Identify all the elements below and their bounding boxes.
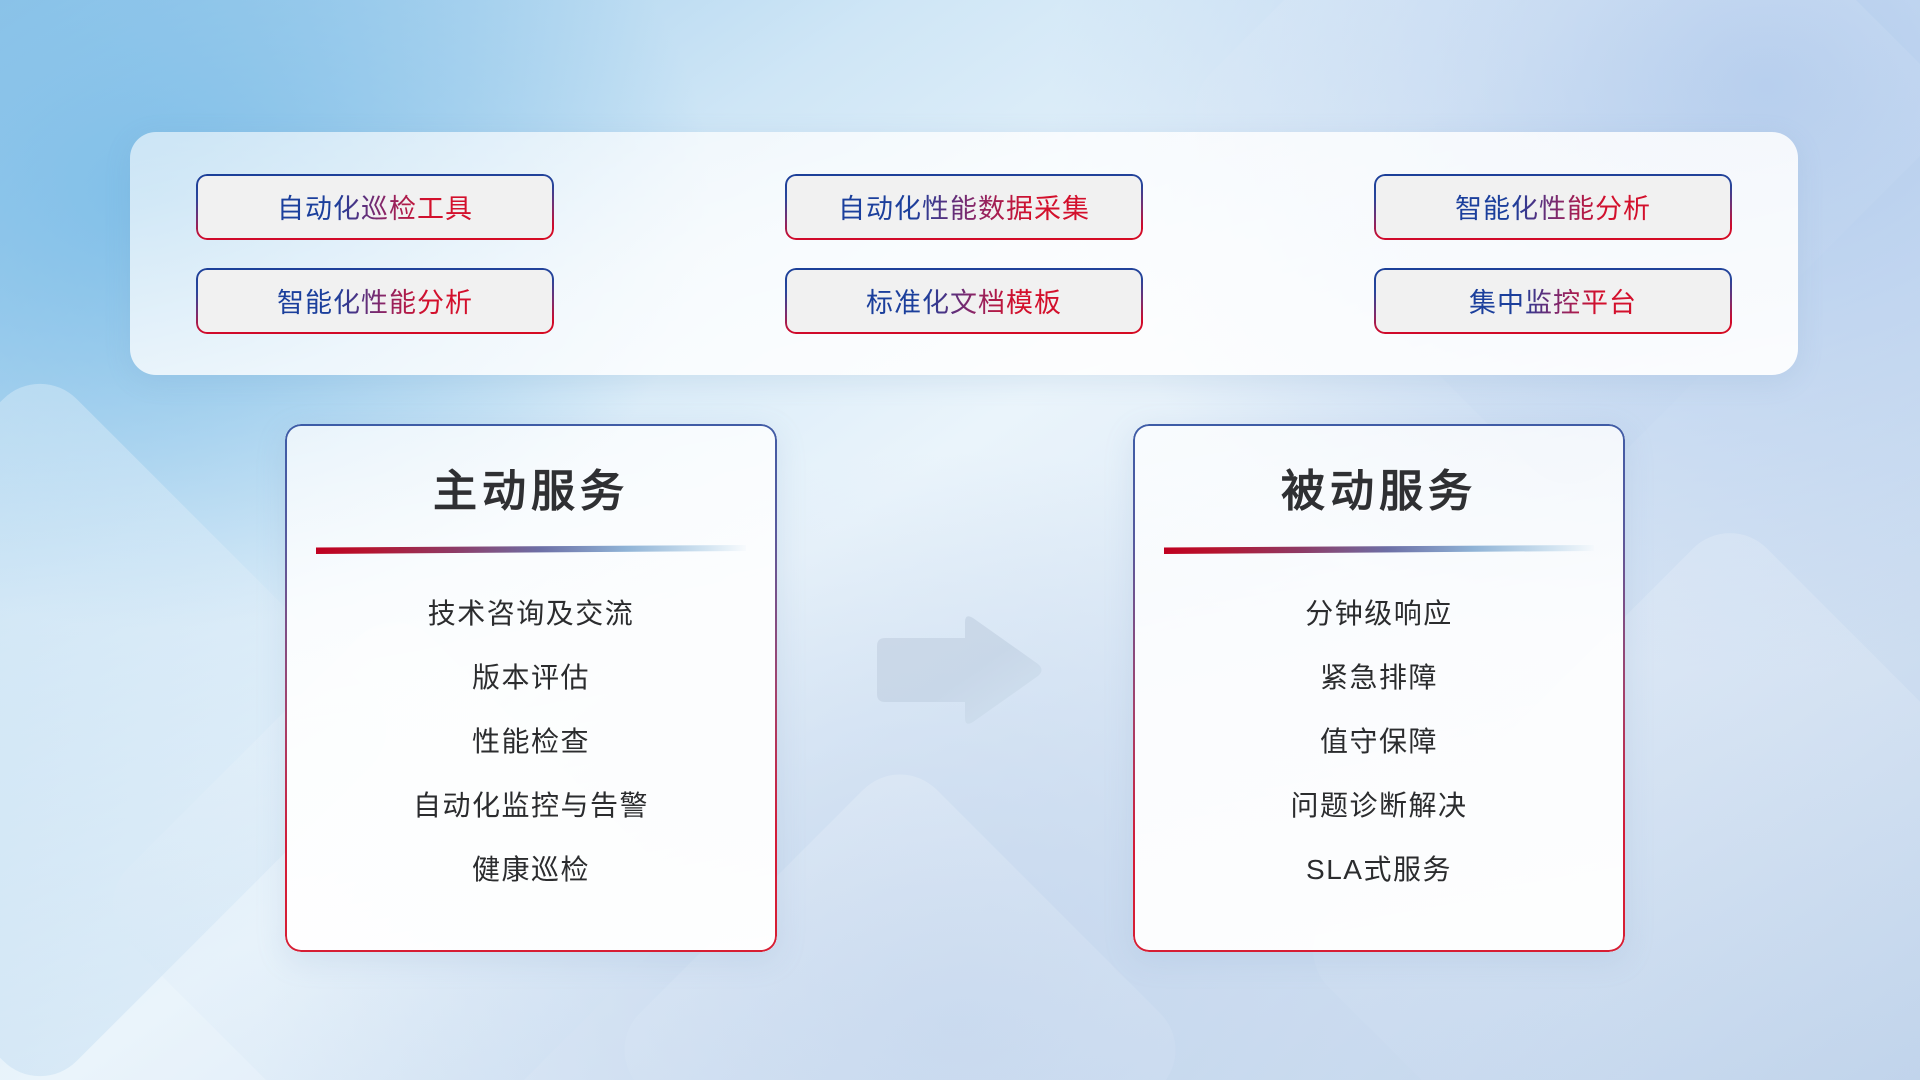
list-item: 自动化监控与告警 <box>413 784 649 824</box>
title-divider <box>316 545 746 554</box>
capability-pill[interactable]: 自动化性能数据采集 <box>785 174 1143 240</box>
capability-pill[interactable]: 集中监控平台 <box>1374 268 1732 334</box>
capability-panel: 自动化巡检工具 自动化性能数据采集 智能化性能分析 智能化性能分析 标准化文档模… <box>130 132 1798 375</box>
list-item: 分钟级响应 <box>1305 592 1453 632</box>
list-item: 健康巡检 <box>472 848 590 888</box>
list-item: 紧急排障 <box>1320 656 1438 696</box>
capability-pill-label: 标准化文档模板 <box>866 281 1062 320</box>
passive-service-list: 分钟级响应 紧急排障 值守保障 问题诊断解决 SLA式服务 <box>1133 592 1625 888</box>
passive-service-card: 被动服务 分钟级响应 紧急排障 值守保障 问题诊断解决 SLA式服务 <box>1133 424 1625 952</box>
passive-service-title: 被动服务 <box>1133 424 1625 519</box>
title-divider <box>1164 545 1594 554</box>
capability-pill[interactable]: 标准化文档模板 <box>785 268 1143 334</box>
capability-pill-label: 智能化性能分析 <box>1455 187 1651 226</box>
list-item: 问题诊断解决 <box>1290 784 1467 824</box>
list-item: 版本评估 <box>472 656 590 696</box>
capability-pill[interactable]: 智能化性能分析 <box>1374 174 1732 240</box>
right-arrow-icon <box>869 612 1045 730</box>
slide-canvas: 自动化巡检工具 自动化性能数据采集 智能化性能分析 智能化性能分析 标准化文档模… <box>0 0 1920 1080</box>
list-item: 性能检查 <box>472 720 590 760</box>
list-item: 技术咨询及交流 <box>428 592 635 632</box>
list-item: SLA式服务 <box>1306 848 1452 888</box>
capability-row-2: 智能化性能分析 标准化文档模板 集中监控平台 <box>196 268 1732 334</box>
capability-pill[interactable]: 智能化性能分析 <box>196 268 554 334</box>
capability-pill[interactable]: 自动化巡检工具 <box>196 174 554 240</box>
capability-pill-label: 智能化性能分析 <box>277 281 473 320</box>
capability-pill-label: 集中监控平台 <box>1469 281 1637 320</box>
list-item: 值守保障 <box>1320 720 1438 760</box>
active-service-card: 主动服务 技术咨询及交流 版本评估 性能检查 自动化监控与告警 健康巡检 <box>285 424 777 952</box>
active-service-list: 技术咨询及交流 版本评估 性能检查 自动化监控与告警 健康巡检 <box>285 592 777 888</box>
capability-row-1: 自动化巡检工具 自动化性能数据采集 智能化性能分析 <box>196 174 1732 240</box>
active-service-title: 主动服务 <box>285 424 777 519</box>
capability-pill-label: 自动化性能数据采集 <box>838 187 1090 226</box>
capability-pill-label: 自动化巡检工具 <box>277 187 473 226</box>
